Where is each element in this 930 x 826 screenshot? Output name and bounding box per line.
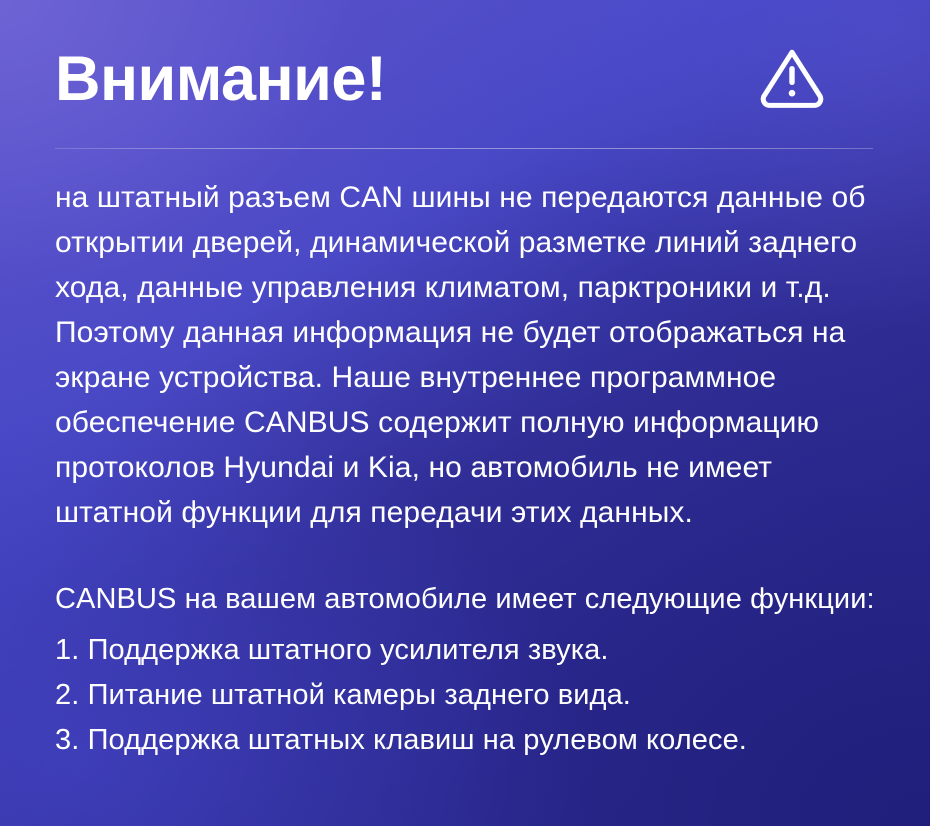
notice-header: Внимание! — [55, 0, 875, 112]
page-title: Внимание! — [55, 46, 386, 112]
header-divider — [55, 148, 873, 149]
list-item: 3. Поддержка штатных клавиш на рулевом к… — [55, 718, 875, 763]
features-block: CANBUS на вашем автомобиле имеет следующ… — [55, 577, 875, 763]
list-item-number: 2. — [55, 679, 79, 711]
list-item-number: 3. — [55, 724, 79, 756]
features-intro: CANBUS на вашем автомобиле имеет следующ… — [55, 577, 875, 622]
features-list: 1. Поддержка штатного усилителя звука. 2… — [55, 628, 875, 763]
notice-content: Внимание! на штатный разъем CAN шины не … — [0, 0, 930, 763]
notice-body: на штатный разъем CAN шины не передаются… — [55, 175, 875, 763]
list-item-label: Поддержка штатного усилителя звука. — [88, 634, 609, 666]
list-item: 1. Поддержка штатного усилителя звука. — [55, 628, 875, 673]
list-item-label: Питание штатной камеры заднего вида. — [88, 679, 631, 711]
list-item: 2. Питание штатной камеры заднего вида. — [55, 673, 875, 718]
list-item-number: 1. — [55, 634, 79, 666]
warning-triangle-icon — [759, 49, 825, 109]
notice-panel: Внимание! на штатный разъем CAN шины не … — [0, 0, 930, 826]
list-item-label: Поддержка штатных клавиш на рулевом коле… — [88, 724, 747, 756]
notice-paragraph: на штатный разъем CAN шины не передаются… — [55, 175, 875, 535]
